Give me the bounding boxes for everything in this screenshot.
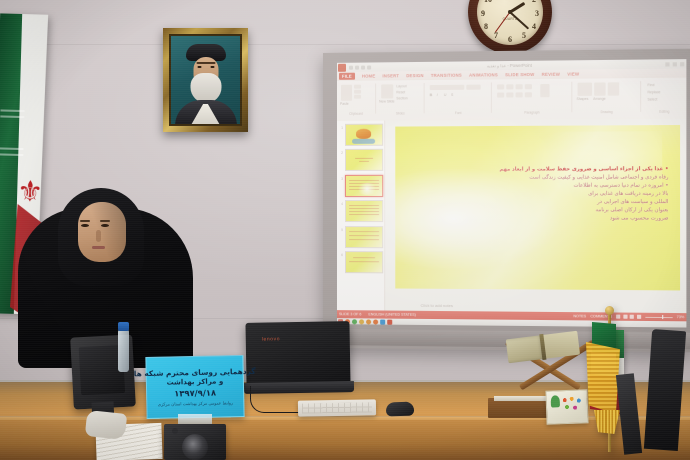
format-painter-button[interactable] [354,95,361,99]
ribbon-group-clipboard[interactable]: Paste Clipboard [339,83,373,115]
slide-thumbnail-row[interactable]: 1 [338,124,384,146]
group-label-font: Font [428,111,489,115]
strikethrough-button[interactable]: S [451,93,453,97]
reset-label[interactable]: Reset [396,90,405,94]
thumbnail-line [349,211,379,212]
eyebrow-left [80,220,90,222]
clock-numeral: 6 [508,35,512,44]
window-controls[interactable] [665,62,684,66]
lenovo-laptop[interactable]: lenovo [245,321,350,387]
thumbnail-line [349,239,379,240]
face-shadow [78,202,126,262]
ribbon-separator [375,84,376,114]
slide-number: 5 [338,226,343,232]
tab-file[interactable]: FILE [339,72,355,80]
tab-view[interactable]: VIEW [567,71,579,76]
ribbon-group-slides[interactable]: New Slide Layout Reset Section Slides [379,82,421,115]
tab-design[interactable]: DESIGN [406,73,423,78]
cut-button[interactable] [354,85,361,89]
nose [96,230,101,242]
slide-thumbnail-row[interactable]: 5 [338,226,384,248]
slide-line-7: ضرورت محسوب می شود [409,214,668,222]
thumbnail-line [349,231,379,232]
powerpoint-icon [338,63,346,71]
placard-date: ۱۳۹۷/۹/۱۸ [174,388,216,399]
thumbnail-line [353,257,375,258]
slide-line-2: رفاه فردی و اجتماعی شامل امنیت غذایی و ک… [409,173,668,182]
ribbon[interactable]: Paste Clipboard New Slide Layout Reset S… [337,78,686,122]
slide-text-body[interactable]: • غذا یکی از اجزاء اساسی و ضروری حفظ سلا… [409,165,668,223]
clock-numeral: 2 [532,0,536,4]
thumbnail-line [359,161,369,162]
thumbnail-line [349,208,379,209]
find-button[interactable]: Find [647,83,654,87]
bold-button[interactable]: B [430,93,432,97]
font-size-box[interactable] [466,85,480,90]
flag-gold-fringe [586,342,620,414]
select-button[interactable]: Select [647,97,657,101]
tab-insert[interactable]: INSERT [382,73,399,78]
lenovo-logo: lenovo [262,336,280,342]
indent-decrease-button[interactable] [516,84,523,89]
slide-thumbnail-2[interactable] [344,149,382,171]
thumbnail-line [355,158,373,159]
slide-counter: SLIDE 3 OF 6 [339,312,361,316]
notes-placeholder[interactable]: Click to add notes [421,303,453,308]
media-icon[interactable] [373,319,378,324]
replace-button[interactable]: Replace [647,90,660,94]
powerpoint-taskbar-icon[interactable] [387,319,392,324]
slide-thumbnail-row[interactable]: 2 [338,149,384,171]
meeting-placard: گردهمایی روسای محترم شبکه ها و مراکز بهد… [145,355,244,419]
paste-label: Paste [340,102,349,106]
slide-thumbnail-5[interactable] [344,226,382,248]
clock-numeral: 10 [484,0,492,4]
ribbon-group-drawing[interactable]: Shapes Arrange Drawing [575,80,638,113]
slide-number: 6 [338,251,343,257]
thumbnail-line [349,235,379,236]
indent-increase-button[interactable] [525,84,532,89]
maximize-icon[interactable] [673,62,677,66]
bottle-cap [118,322,129,331]
group-label-slides: Slides [379,111,421,115]
water-bottle [118,330,129,372]
group-label-paragraph: Paragraph [495,110,569,115]
conference-room-photo: 12 1 2 3 4 5 6 7 8 9 10 11 QUARTZ [0,0,690,460]
slide-thumbnail-row[interactable]: 4 [338,200,384,222]
eyebrow-right [100,220,110,222]
keyboard[interactable] [298,399,376,416]
slide-editing-canvas[interactable]: • غذا یکی از اجزاء اساسی و ضروری حفظ سلا… [385,119,686,313]
slide-thumbnail-1[interactable] [344,124,382,146]
align-right-button[interactable] [516,92,523,97]
slide-line-4: بالا در زمینه دریافت های غذایی برای [409,189,668,197]
ribbon-separator-5 [640,81,641,112]
portrait-canvas [169,34,242,126]
new-slide-button[interactable] [381,84,393,98]
italic-button[interactable]: I [437,93,438,97]
close-icon[interactable] [680,62,684,66]
tab-home[interactable]: HOME [362,73,375,78]
new-slide-label: New Slide [379,99,394,103]
white-cloth [85,410,127,440]
slide-number: 3 [338,175,343,181]
undo-icon[interactable] [355,65,359,69]
justify-button[interactable] [525,92,532,97]
clock-second-hand [495,12,511,33]
mouse[interactable] [386,402,414,417]
card-tree-graphic [551,395,560,407]
group-label-clipboard: Clipboard [339,112,373,116]
clock-center-pin [508,10,512,14]
slide-thumbnail-row[interactable]: 3 [338,175,384,197]
chrome-icon[interactable] [352,319,357,324]
ribbon-group-paragraph[interactable]: Paragraph [495,81,569,114]
clock-numeral: 5 [522,31,526,40]
font-name-box[interactable] [430,85,465,90]
slide-thumbnail-panel[interactable]: 1 2 3 [337,121,385,311]
tab-animations[interactable]: ANIMATIONS [469,72,498,77]
portrait-eyes [197,66,214,68]
clock-numeral: 8 [484,22,488,31]
align-center-button[interactable] [506,92,513,97]
slide-line-1: • غذا یکی از اجزاء اساسی و ضروری حفظ سلا… [409,165,668,174]
clock-numeral: 4 [532,22,536,31]
speaker-tweeter [172,428,178,434]
eye-left [81,224,89,227]
underline-button[interactable]: U [444,93,446,97]
window-title: غذا و تغذیه - PowerPoint [487,63,532,69]
language-indicator[interactable]: ENGLISH (UNITED STATES) [368,312,415,316]
redo-icon[interactable] [361,65,365,69]
flag-gold-tassel [594,410,620,434]
ribbon-group-font[interactable]: B I U S Font [428,81,489,114]
zoom-slider[interactable] [645,316,672,317]
align-left-button[interactable] [497,92,504,97]
thumbnail-water [352,139,375,144]
layout-label[interactable]: Layout [396,84,406,88]
mouth [92,246,105,249]
shapes-gallery[interactable] [578,83,593,96]
quick-access-toolbar[interactable] [349,65,371,69]
slideshow-icon[interactable] [367,65,371,69]
portrait-beard [190,73,221,103]
thumbnail-image [356,129,370,138]
laptop-cable [250,386,303,413]
arrange-button[interactable] [594,82,605,95]
tab-transitions[interactable]: TRANSITIONS [431,73,462,78]
skype-icon[interactable] [380,319,385,324]
shapes-label: Shapes [576,97,588,101]
current-slide[interactable]: • غذا یکی از اجزاء اساسی و ضروری حفظ سلا… [395,125,680,290]
arrange-label: Arrange [593,97,606,101]
quran-page-left [506,335,545,363]
slide-line-3: • امروزه در تمام دنیا دسترسی به اطلاعات [409,181,668,189]
paste-button[interactable] [341,85,352,101]
thumbnail-line [349,180,379,181]
tab-slide-show[interactable]: SLIDE SHOW [505,72,534,77]
numbering-button[interactable] [506,84,513,89]
slide-thumbnail-6[interactable] [344,251,382,273]
clock-face: 12 1 2 3 4 5 6 7 8 9 10 11 QUARTZ [477,0,543,45]
speaker-cone [182,434,208,460]
group-label-drawing: Drawing [575,110,638,115]
projection-surface[interactable]: غذا و تغذیه - PowerPoint FILE HOME INSER… [337,59,686,327]
save-icon[interactable] [349,65,353,69]
desk-speaker [164,424,226,460]
zoom-level[interactable]: 73% [677,315,685,319]
convert-smartart-button[interactable] [540,84,549,97]
placard-footer: روابط عمومی مرکز بهداشت استان مرکزی [158,400,233,407]
quick-styles-button[interactable] [608,82,619,95]
slide-number: 4 [338,200,343,206]
flag-finial [605,306,614,315]
thumbnail-line [349,205,379,206]
minimize-icon[interactable] [665,62,669,66]
slide-number: 2 [338,149,343,155]
clock-numeral: 3 [535,9,539,18]
framed-portrait [163,28,248,132]
quran-page-right [541,331,580,359]
bullets-button[interactable] [497,84,504,89]
wall-seam [0,44,690,45]
section-label[interactable]: Section [396,96,407,100]
ribbon-group-editing[interactable]: Find Replace Select Editing [644,80,684,113]
explorer-icon[interactable] [359,319,364,324]
interactive-whiteboard[interactable]: غذا و تغذیه - PowerPoint FILE HOME INSER… [323,49,690,353]
folder-icon[interactable] [366,319,371,324]
slide-thumbnail-4[interactable] [344,200,382,222]
monitor-port [92,364,100,375]
eye-right [101,224,109,227]
ribbon-separator-2 [424,83,425,113]
placard-line-1: گردهمایی روسای محترم شبکه ها [134,367,256,379]
placard-line-2: و مراکز بهداشت [166,377,223,386]
thumbnail-line [349,261,379,262]
slide-thumbnail-row[interactable]: 6 [338,251,384,273]
slide-number: 1 [338,124,343,130]
copy-button[interactable] [354,90,361,94]
thumbnail-line [349,214,379,215]
ribbon-separator-3 [491,82,492,112]
ribbon-separator-4 [571,82,572,113]
powerpoint-window[interactable]: غذا و تغذیه - PowerPoint FILE HOME INSER… [337,59,686,327]
slide-thumbnail-3-selected[interactable] [344,175,382,197]
portrait-brow [196,62,215,64]
slideshow-view-icon[interactable] [637,315,641,319]
clock-numeral: 9 [481,9,485,18]
slide-line-6: بعنوان یکی از ارکان اصلی برنامه [409,206,668,214]
slide-line-5: المللی و سیاست های اجرایی در [409,198,668,206]
thumbnail-glow [356,183,378,195]
tab-review[interactable]: REVIEW [542,72,560,77]
group-label-editing: Editing [644,110,684,114]
